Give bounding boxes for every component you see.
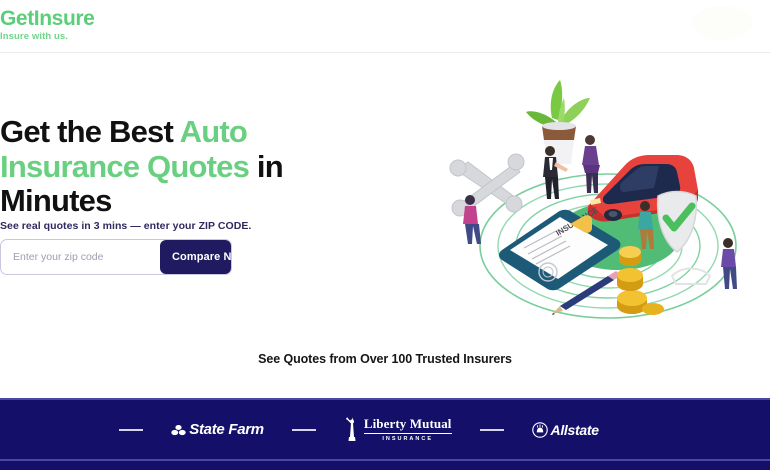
header-decoration-blob (692, 6, 752, 40)
headline-part1: Get the Best (0, 114, 180, 149)
insurer-logo-liberty-mutual[interactable]: Liberty Mutual INSURANCE (344, 417, 452, 442)
hero-subtitle: See real quotes in 3 mins — enter your Z… (0, 220, 340, 232)
plant-icon (526, 80, 590, 164)
state-farm-label: State Farm (189, 421, 264, 438)
logo-tagline: Insure with us. (0, 31, 94, 42)
compare-now-button[interactable]: Compare Now (160, 240, 232, 274)
footer-divider (0, 459, 770, 461)
allstate-good-hands-icon (532, 422, 548, 438)
trusted-insurers-heading: See Quotes from Over 100 Trusted Insurer… (0, 352, 770, 366)
logo-text: GetInsure (0, 8, 94, 30)
insurer-logos-row: State Farm Liberty Mutual INSURANCE (0, 400, 770, 459)
insurer-logo-allstate[interactable]: Allstate (532, 422, 599, 438)
zip-code-input[interactable] (1, 240, 160, 274)
liberty-mutual-label: Liberty Mutual (364, 417, 452, 433)
landing-page: GetInsure Insure with us. Get the Best A… (0, 0, 770, 470)
state-farm-mark-icon (171, 424, 186, 436)
allstate-label: Allstate (551, 422, 599, 438)
wrench-icon (450, 154, 524, 216)
zip-quote-form: Compare Now (0, 239, 232, 275)
statue-of-liberty-icon (344, 417, 360, 442)
insurer-logos-footer: State Farm Liberty Mutual INSURANCE (0, 398, 770, 470)
brand-logo[interactable]: GetInsure Insure with us. (0, 8, 94, 42)
site-header: GetInsure Insure with us. (0, 0, 770, 53)
hero-illustration: INSURANCE (440, 78, 770, 328)
liberty-mutual-sublabel: INSURANCE (382, 436, 433, 442)
separator-dash (119, 429, 143, 431)
insurer-logo-state-farm[interactable]: State Farm (171, 421, 264, 438)
person-figure-right (721, 238, 737, 289)
liberty-mutual-textblock: Liberty Mutual INSURANCE (364, 417, 452, 441)
separator-dash (480, 429, 504, 431)
separator-dash (292, 429, 316, 431)
page-title: Get the Best Auto Insurance Quotes in Mi… (0, 115, 330, 219)
person-figure-woman (582, 135, 600, 193)
hero-section: Get the Best Auto Insurance Quotes in Mi… (0, 53, 770, 333)
